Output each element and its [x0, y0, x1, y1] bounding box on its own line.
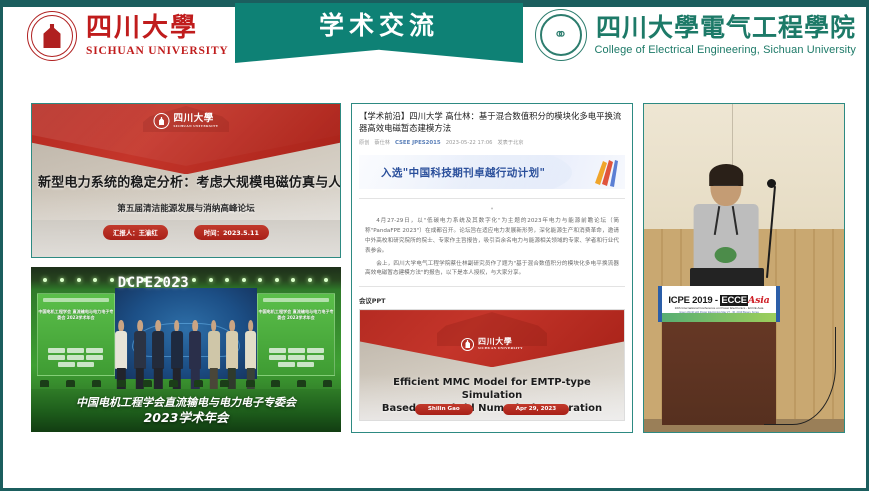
- ppt-section-label: 会议PPT: [359, 296, 625, 305]
- caption-line-1: 中国电机工程学会直流输电与电力电子专委会: [31, 396, 341, 410]
- article-bottom-rule: [359, 286, 625, 287]
- ppt-cover-slide: 四川大學 SICHUAN UNIVERSITY Efficient MMC Mo…: [359, 309, 625, 421]
- article-author: 蔡仕林: [374, 139, 390, 146]
- article-headline: 【学术前沿】四川大学 高仕林：基于混合数值积分的模块化多电平换流器高效电磁暂态建…: [359, 110, 625, 134]
- sponsor-logo-strip-left: [43, 298, 109, 302]
- speaker: [696, 166, 756, 278]
- stage-event-title: DCPE2023: [118, 275, 189, 291]
- article-source: CSEE JPES2015: [395, 140, 441, 146]
- title-slide-subheading: 第五届清洁能源发展与消纳高峰论坛: [32, 202, 340, 214]
- ppt-seal-icon: [461, 338, 474, 351]
- article-location: 发表于北京: [497, 139, 523, 146]
- group-photo: 中国电机工程学会 直流输电与电力电子专委会 2023学术年会 DCPE2023 …: [31, 267, 341, 432]
- seal-monogram-icon: ⚭: [553, 25, 567, 45]
- seal-tower-icon: [44, 24, 61, 48]
- group-photo-caption: 中国电机工程学会直流输电与电力电子专委会 2023学术年会: [31, 396, 341, 425]
- article-original-tag: 原创: [359, 139, 369, 146]
- article-paragraph-1: 4月27-29日，以"低碳电力系统及其数字化"为主题的2023年电力与能源前瞻论…: [359, 217, 625, 256]
- article-body: • 4月27-29日，以"低碳电力系统及其数字化"为主题的2023年电力与能源前…: [359, 198, 625, 279]
- conference-banner-title: ICPE 2019 - ECCEAsia: [668, 295, 769, 306]
- journal-award-banner: 入选"中国科技期刊卓越行动计划": [359, 155, 625, 189]
- article-paragraph-2: 会上，四川大学电气工程学院蔡仕林副研究员作了题为"基于混合数值积分的模块化多电平…: [359, 260, 625, 280]
- conference-banner-details: Green World with Power Electronics May 2…: [679, 311, 759, 314]
- ppt-date-badge: Apr 29, 2023: [503, 404, 569, 415]
- sponsor-chips-right: [263, 348, 329, 367]
- section-banner-label: 学术交流: [319, 3, 439, 49]
- college-seal-icon: ⚭: [535, 9, 587, 61]
- date-badge: 时间：2023.5.11: [194, 225, 269, 240]
- title-slide-seal-icon: [154, 113, 170, 129]
- article-byline: 原创 蔡仕林 CSEE JPES2015 2023-05-22 17:06 发表…: [359, 139, 625, 146]
- conference-group-photo-panel: 中国电机工程学会 直流输电与电力电子专委会 2023学术年会 DCPE2023 …: [31, 267, 341, 432]
- speaker-glasses-icon: [713, 185, 738, 192]
- sichuan-university-logo: 四川大學 SICHUAN UNIVERSITY: [27, 11, 229, 61]
- sponsor-chips-left: [43, 348, 109, 367]
- screen-text-right: 中国电机工程学会 直流输电与电力电子专委会 2023学术年会: [258, 309, 334, 321]
- title-slide-badges: 汇报人：王渝红 时间：2023.5.11: [32, 225, 340, 240]
- wechat-article-panel: 【学术前沿】四川大学 高仕林：基于混合数值积分的模块化多电平换流器高效电磁暂态建…: [351, 103, 633, 433]
- ppt-author-badge: Shilin Gao: [415, 404, 473, 415]
- sponsor-logo-strip-right: [263, 298, 329, 302]
- journal-award-label: 入选"中国科技期刊卓越行动计划": [381, 165, 545, 180]
- conference-banner: ICPE 2019 - ECCEAsia 10th International …: [658, 286, 780, 322]
- podium-photo: ICPE 2019 - ECCEAsia 10th International …: [644, 104, 844, 432]
- slide-header: 四川大學 SICHUAN UNIVERSITY 学术交流 ⚭ 四川大學電气工程學…: [3, 3, 869, 75]
- conference-banner-subtitle: 10th International Conference on Power E…: [675, 306, 764, 310]
- caption-line-2: 2023学术年会: [31, 410, 341, 426]
- ppt-logo-en: SICHUAN UNIVERSITY: [478, 346, 523, 350]
- title-slide-logo: 四川大學 SICHUAN UNIVERSITY: [154, 113, 219, 129]
- banner-ecce-label: ECCE: [720, 295, 748, 306]
- title-slide-logo-cn: 四川大學: [174, 114, 219, 124]
- college-name-cn: 四川大學電气工程學院: [596, 14, 856, 42]
- ppt-badges: Shilin Gao Apr 29, 2023: [360, 404, 624, 415]
- screen-text-left: 中国电机工程学会 直流输电与电力电子专委会 2023学术年会: [38, 309, 114, 321]
- speaker-shirt: [694, 204, 759, 278]
- ppt-title-line-1: Efficient MMC Model for EMTP-type Simula…: [368, 376, 616, 402]
- article-divider-mark: •: [359, 206, 625, 213]
- college-name-en: College of Electrical Engineering, Sichu…: [595, 44, 857, 56]
- university-name-en: SICHUAN UNIVERSITY: [86, 45, 229, 57]
- floor-lights: [31, 380, 341, 387]
- speaker-hair: [709, 164, 743, 186]
- fan-pages-icon: [591, 157, 619, 187]
- ppt-logo-cn: 四川大學: [478, 338, 523, 346]
- shirt-print-graphic: [715, 247, 737, 263]
- banner-conf-name: ICPE 2019 -: [668, 295, 720, 306]
- presentation-title-slide-panel: 四川大學 SICHUAN UNIVERSITY 新型电力系统的稳定分析：考虑大规…: [31, 103, 341, 258]
- banner-asia-label: Asia: [748, 295, 770, 306]
- slide-root: 四川大學 SICHUAN UNIVERSITY 学术交流 ⚭ 四川大學電气工程學…: [0, 0, 869, 491]
- college-logo: ⚭ 四川大學電气工程學院 College of Electrical Engin…: [535, 9, 857, 61]
- university-name-cn: 四川大學: [86, 15, 229, 42]
- title-slide-logo-en: SICHUAN UNIVERSITY: [174, 124, 219, 128]
- title-slide: 四川大學 SICHUAN UNIVERSITY 新型电力系统的稳定分析：考虑大规…: [32, 104, 340, 257]
- banner-green-stripe: [662, 313, 776, 322]
- title-slide-heading: 新型电力系统的稳定分析：考虑大规模电磁仿真与人工智能: [38, 171, 334, 190]
- ppt-logo: 四川大學 SICHUAN UNIVERSITY: [461, 338, 523, 351]
- presenter-badge: 汇报人：王渝红: [103, 225, 168, 240]
- stage-screen-left: 中国电机工程学会 直流输电与电力电子专委会 2023学术年会: [37, 293, 115, 376]
- podium-photo-panel: ICPE 2019 - ECCEAsia 10th International …: [643, 103, 845, 433]
- article-timestamp: 2023-05-22 17:06: [446, 140, 493, 146]
- section-banner: 学术交流: [235, 3, 523, 63]
- stage-screen-right: 中国电机工程学会 直流输电与电力电子专委会 2023学术年会: [257, 293, 335, 376]
- university-seal-icon: [27, 11, 77, 61]
